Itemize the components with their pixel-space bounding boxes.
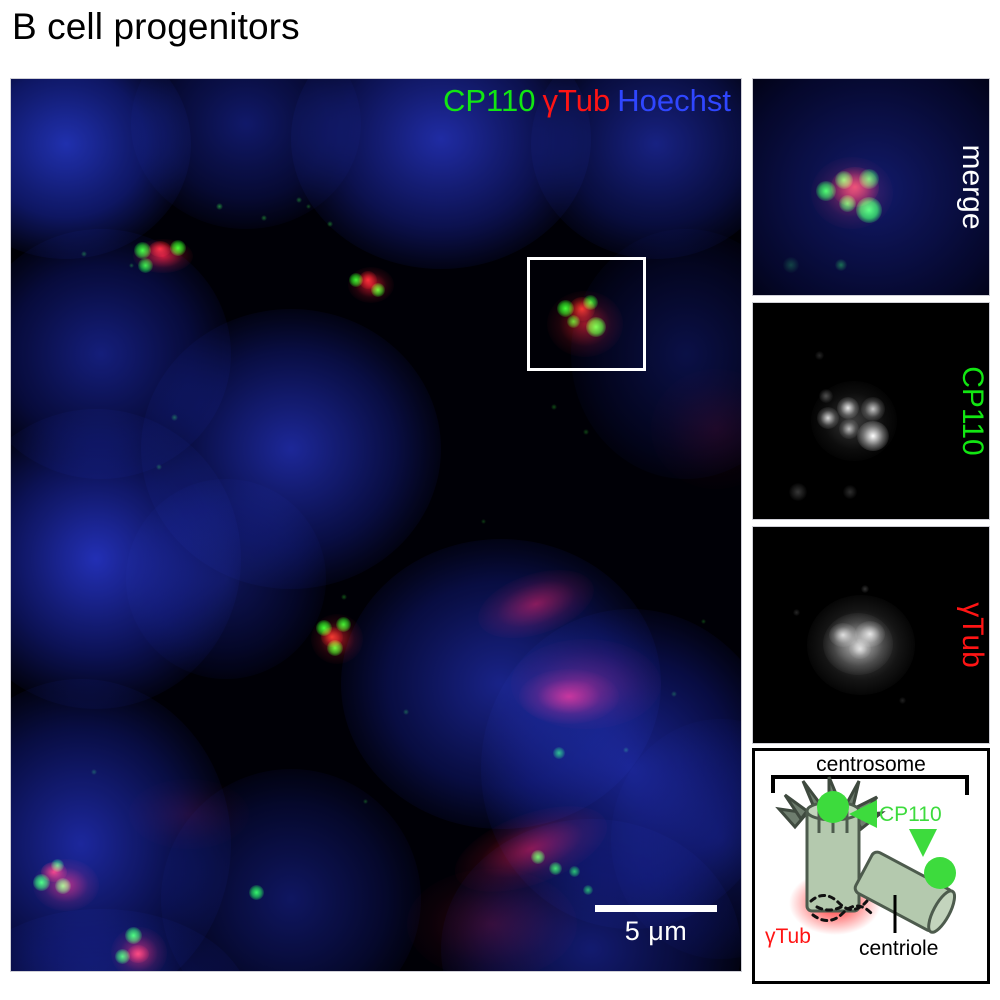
cp110-focus xyxy=(336,617,351,632)
gtub-diffuse-cloud xyxy=(407,869,577,972)
gtub-diffuse-cloud xyxy=(519,669,619,724)
background-speck xyxy=(171,414,178,421)
cp110-focus xyxy=(33,874,50,891)
cp110-cap-daughter xyxy=(924,857,956,889)
nucleus-blob xyxy=(131,78,361,229)
channel-legend: CP110γTubHoechst xyxy=(436,85,731,116)
legend-label-gtub: γTub xyxy=(542,83,610,118)
gtub-focus-halo xyxy=(133,239,193,273)
background-speck xyxy=(671,691,677,697)
centrosome-schematic: centrosome xyxy=(755,751,987,981)
background-speck xyxy=(129,263,134,268)
background-speck xyxy=(481,519,486,524)
gtub-gray-blob xyxy=(849,639,871,659)
cp110-focus xyxy=(349,273,363,287)
legend-label-cp110: CP110 xyxy=(443,83,536,118)
gtub-gray-blob xyxy=(823,613,893,675)
cp110-focus xyxy=(51,859,64,872)
cp110-focus xyxy=(549,862,562,875)
cp110-focus xyxy=(125,927,142,944)
page-title: B cell progenitors xyxy=(12,6,300,48)
gtub-focus xyxy=(149,241,171,257)
diagram-label-cp110: CP110 xyxy=(879,803,942,826)
gtub-focus xyxy=(41,862,67,882)
nucleus-blob xyxy=(126,479,326,679)
cp110-focus xyxy=(531,850,545,864)
nucleus-blob xyxy=(161,769,421,972)
cp110-cap-mother xyxy=(817,791,849,823)
inset-label-merge: merge xyxy=(957,144,987,229)
cp110-focus xyxy=(249,885,264,900)
nucleus-blob xyxy=(10,409,241,709)
background-speck xyxy=(341,594,347,600)
background-speck xyxy=(261,215,267,221)
background-speck xyxy=(551,404,557,410)
cp110-focus xyxy=(839,195,856,212)
inset-label-gtub: γTub xyxy=(957,602,987,668)
background-speck xyxy=(156,464,162,470)
diagram-label-centriole: centriole xyxy=(859,937,938,960)
gtub-focus-halo xyxy=(111,927,167,972)
centrosome-bracket xyxy=(773,777,967,795)
nucleus-blob xyxy=(10,909,251,972)
background-speck xyxy=(583,429,589,435)
nucleus-blob xyxy=(10,679,231,972)
cp110-gray-blob xyxy=(789,483,807,501)
background-speck xyxy=(81,251,87,257)
background-speck xyxy=(91,769,97,775)
background-speck xyxy=(783,257,799,273)
cp110-gray-blob xyxy=(857,421,889,451)
gtub-gray-blob xyxy=(793,609,800,616)
cp110-focus xyxy=(55,878,71,894)
gtub-diffuse-cloud xyxy=(470,557,603,651)
cp110-focus xyxy=(816,181,836,201)
diagram-label-gtub: γTub xyxy=(765,925,811,948)
cp110-focus xyxy=(553,747,565,759)
cp110-focus xyxy=(856,197,882,223)
gtub-diffuse-cloud xyxy=(444,789,618,910)
schematic-diagram-panel: centrosome xyxy=(752,748,990,984)
gtub-gray-blob xyxy=(861,585,869,593)
cp110-gray-blob xyxy=(819,389,833,403)
main-micrograph-panel: CP110γTubHoechst 5 μm xyxy=(10,78,742,972)
cp110-gray-blob xyxy=(839,419,859,439)
cp110-focus xyxy=(170,240,186,256)
inset-panel-gtub: γTub xyxy=(752,526,990,744)
cp110-focus xyxy=(835,171,853,189)
background-speck xyxy=(327,221,333,227)
nucleus-blob xyxy=(441,819,741,972)
inset-panel-merge: merge xyxy=(752,78,990,296)
nucleus-blob xyxy=(141,309,441,589)
cp110-gray-blob xyxy=(837,397,859,419)
inset-panel-cp110: CP110 xyxy=(752,302,990,520)
gtub-gray-blob xyxy=(829,623,857,647)
cp110-gray-blob xyxy=(843,485,857,499)
diagram-title-centrosome: centrosome xyxy=(816,753,926,776)
gtub-gray-blob xyxy=(807,595,915,695)
gtub-focus-halo xyxy=(811,157,893,229)
nucleus-blob xyxy=(341,539,661,829)
gtub-diffuse-cloud xyxy=(651,369,742,489)
cp110-focus xyxy=(138,258,153,273)
scalebar-label: 5 μm xyxy=(586,916,726,947)
background-speck xyxy=(403,709,409,715)
gtub-focus-halo xyxy=(33,859,99,911)
background-speck xyxy=(701,619,706,624)
nucleus-blob xyxy=(481,609,742,929)
background-speck xyxy=(296,197,302,203)
background-speck xyxy=(835,259,847,271)
gtub-diffuse-cloud xyxy=(511,639,661,729)
nucleus-blob xyxy=(10,229,231,479)
background-speck xyxy=(306,204,311,209)
inset-label-cp110: CP110 xyxy=(957,366,987,456)
background-speck xyxy=(363,799,368,804)
gtub-focus xyxy=(321,627,343,647)
gtub-diffuse-cloud xyxy=(129,779,249,849)
cp110-focus xyxy=(134,242,151,259)
legend-label-hoechst: Hoechst xyxy=(617,83,731,118)
cp110-focus xyxy=(569,866,580,877)
nucleus-blob xyxy=(752,78,990,296)
roi-box xyxy=(527,257,646,371)
gtub-focus-halo xyxy=(311,614,363,664)
cp110-focus xyxy=(316,620,332,636)
gtub-focus xyxy=(127,945,149,963)
gtub-gray-blob xyxy=(855,621,885,647)
cp110-gray-blob xyxy=(817,407,839,429)
scalebar-line xyxy=(595,905,717,912)
gtub-focus xyxy=(831,167,879,207)
scalebar: 5 μm xyxy=(586,905,726,947)
cp110-focus xyxy=(327,640,343,656)
background-speck xyxy=(216,203,223,210)
cp110-focus xyxy=(115,949,130,964)
cp110-gray-blob xyxy=(861,397,885,421)
cp110-focus xyxy=(583,885,593,895)
nucleus-blob xyxy=(10,78,191,259)
cp110-focus xyxy=(859,169,879,189)
gtub-gray-blob xyxy=(899,697,906,704)
cp110-focus xyxy=(371,283,385,297)
background-speck xyxy=(623,747,629,753)
gtub-focus-halo xyxy=(348,267,394,303)
gtub-focus xyxy=(359,271,377,289)
cp110-gray-blob xyxy=(811,381,897,461)
cp110-gray-blob xyxy=(815,351,824,360)
